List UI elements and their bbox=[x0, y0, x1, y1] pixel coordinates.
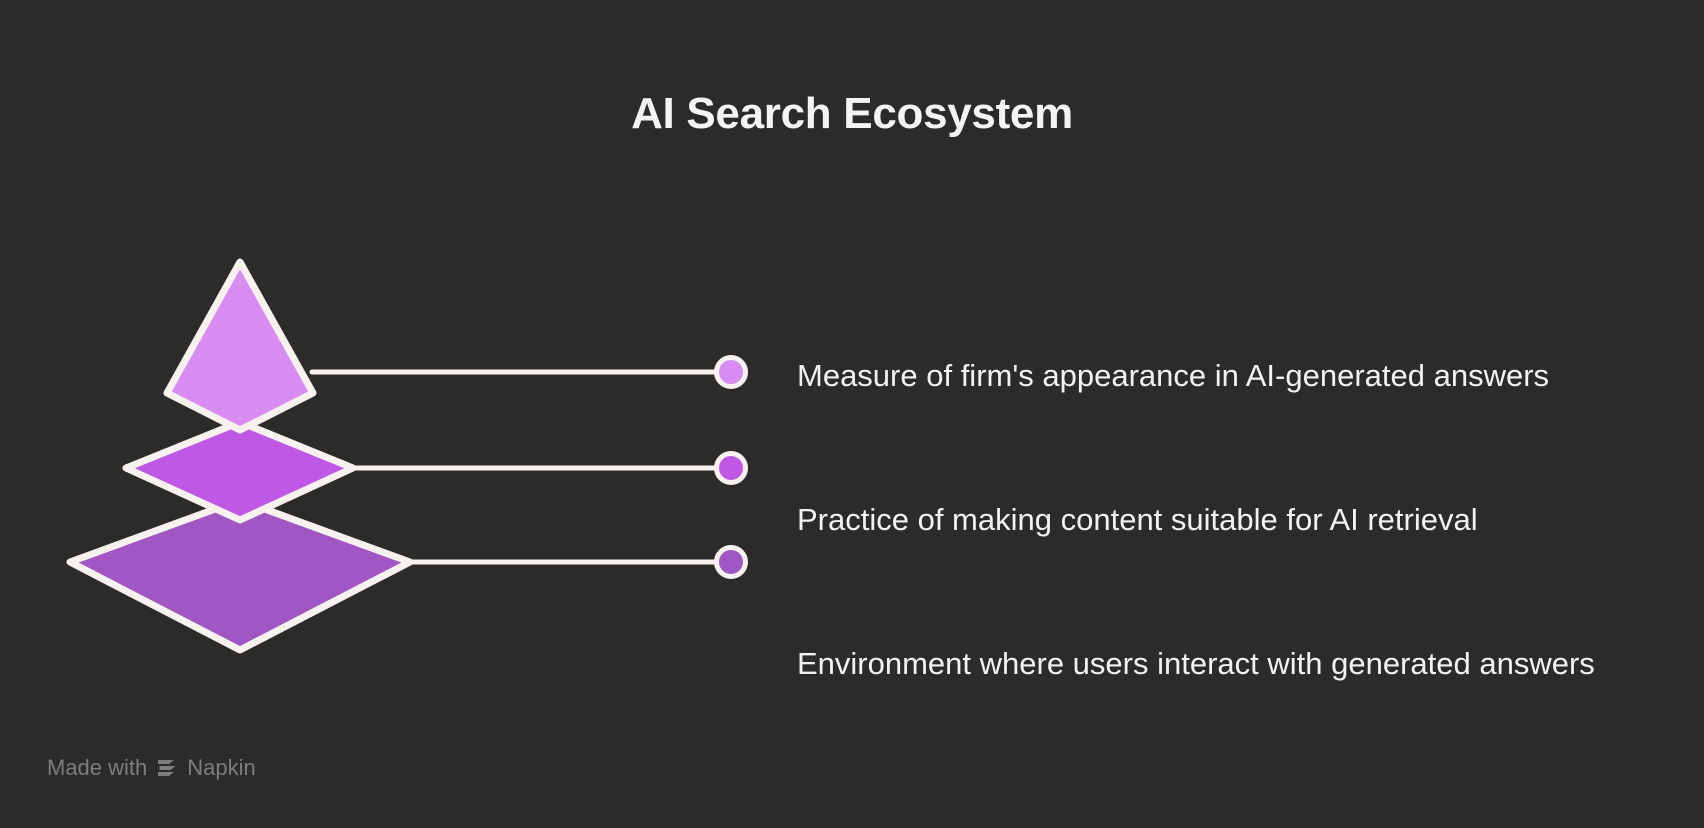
layer-description-bottom: Environment where users interact with ge… bbox=[797, 640, 1627, 687]
connector-dot-bottom[interactable] bbox=[717, 548, 746, 577]
connector-dot-middle[interactable] bbox=[717, 454, 746, 483]
layer-description-top: Measure of firm's appearance in AI-gener… bbox=[797, 352, 1627, 399]
diagram-canvas: AI Search Ecosystem Measure of firm's ap… bbox=[0, 0, 1704, 828]
napkin-watermark[interactable]: Made with Napkin bbox=[47, 757, 256, 779]
connector-dot-top[interactable] bbox=[717, 358, 746, 387]
layered-pyramid-graphic bbox=[0, 0, 1704, 828]
napkin-layers-icon bbox=[156, 758, 178, 778]
pyramid-layer-top bbox=[167, 262, 313, 430]
layer-description-middle: Practice of making content suitable for … bbox=[797, 496, 1627, 543]
watermark-brand-label: Napkin bbox=[187, 757, 255, 779]
pyramid-layer-middle bbox=[126, 422, 353, 520]
watermark-prefix-label: Made with bbox=[47, 757, 147, 779]
